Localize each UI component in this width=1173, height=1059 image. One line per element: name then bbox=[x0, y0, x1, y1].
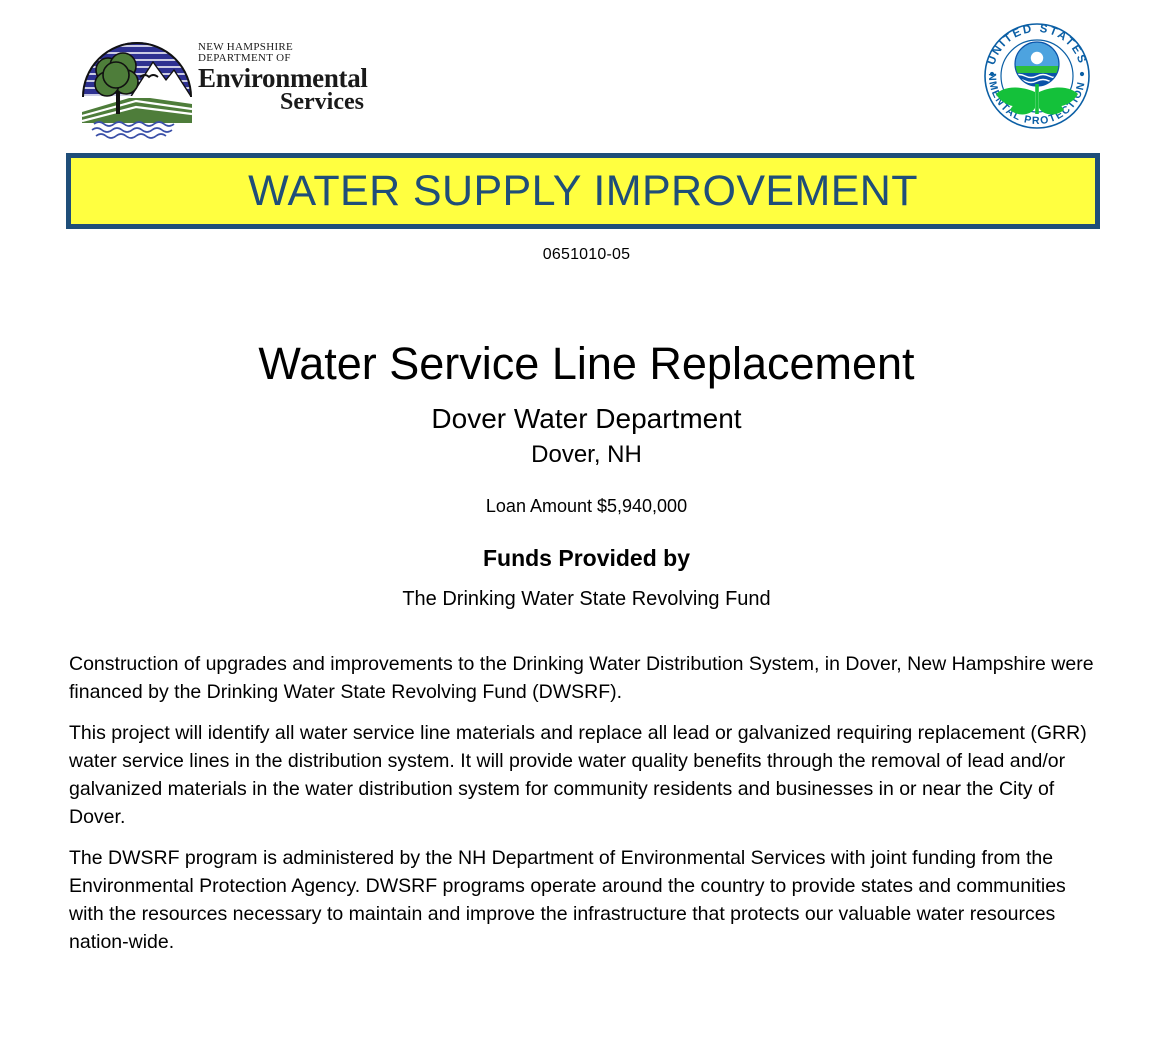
owner-name: Dover Water Department bbox=[0, 403, 1173, 435]
funding-source: The Drinking Water State Revolving Fund bbox=[0, 588, 1173, 611]
loan-amount: Loan Amount $5,940,000 bbox=[0, 496, 1173, 517]
nhdes-seal-icon bbox=[78, 24, 196, 142]
nhdes-line-services: Services bbox=[198, 90, 370, 114]
paragraph-dwsrf-program: The DWSRF program is administered by the… bbox=[69, 844, 1101, 956]
nhdes-line-environmental: Environmental bbox=[198, 65, 370, 92]
nhdes-wordmark: NEW HAMPSHIRE DEPARTMENT OF Environmenta… bbox=[198, 42, 370, 114]
body-copy: Construction of upgrades and improvement… bbox=[69, 650, 1101, 969]
page-title: Water Service Line Replacement bbox=[0, 338, 1173, 390]
project-number: 0651010-05 bbox=[0, 246, 1173, 264]
epa-seal-icon: UNITED STATES ENVIRONMENTAL PROTECTION A… bbox=[978, 14, 1096, 136]
epa-logo: UNITED STATES ENVIRONMENTAL PROTECTION A… bbox=[978, 14, 1096, 136]
nhdes-logo: NEW HAMPSHIRE DEPARTMENT OF Environmenta… bbox=[78, 24, 368, 142]
paragraph-project-scope: This project will identify all water ser… bbox=[69, 719, 1101, 831]
paragraph-construction: Construction of upgrades and improvement… bbox=[69, 650, 1101, 706]
funds-provided-by-heading: Funds Provided by bbox=[0, 545, 1173, 572]
water-supply-improvement-banner: WATER SUPPLY IMPROVEMENT bbox=[66, 153, 1100, 229]
owner-location: Dover, NH bbox=[0, 441, 1173, 469]
header-logo-row: NEW HAMPSHIRE DEPARTMENT OF Environmenta… bbox=[0, 0, 1173, 150]
fact-sheet-page: { "header": { "nhdes_logo": { "icon": "n… bbox=[0, 0, 1173, 1059]
banner-title: WATER SUPPLY IMPROVEMENT bbox=[248, 167, 918, 216]
